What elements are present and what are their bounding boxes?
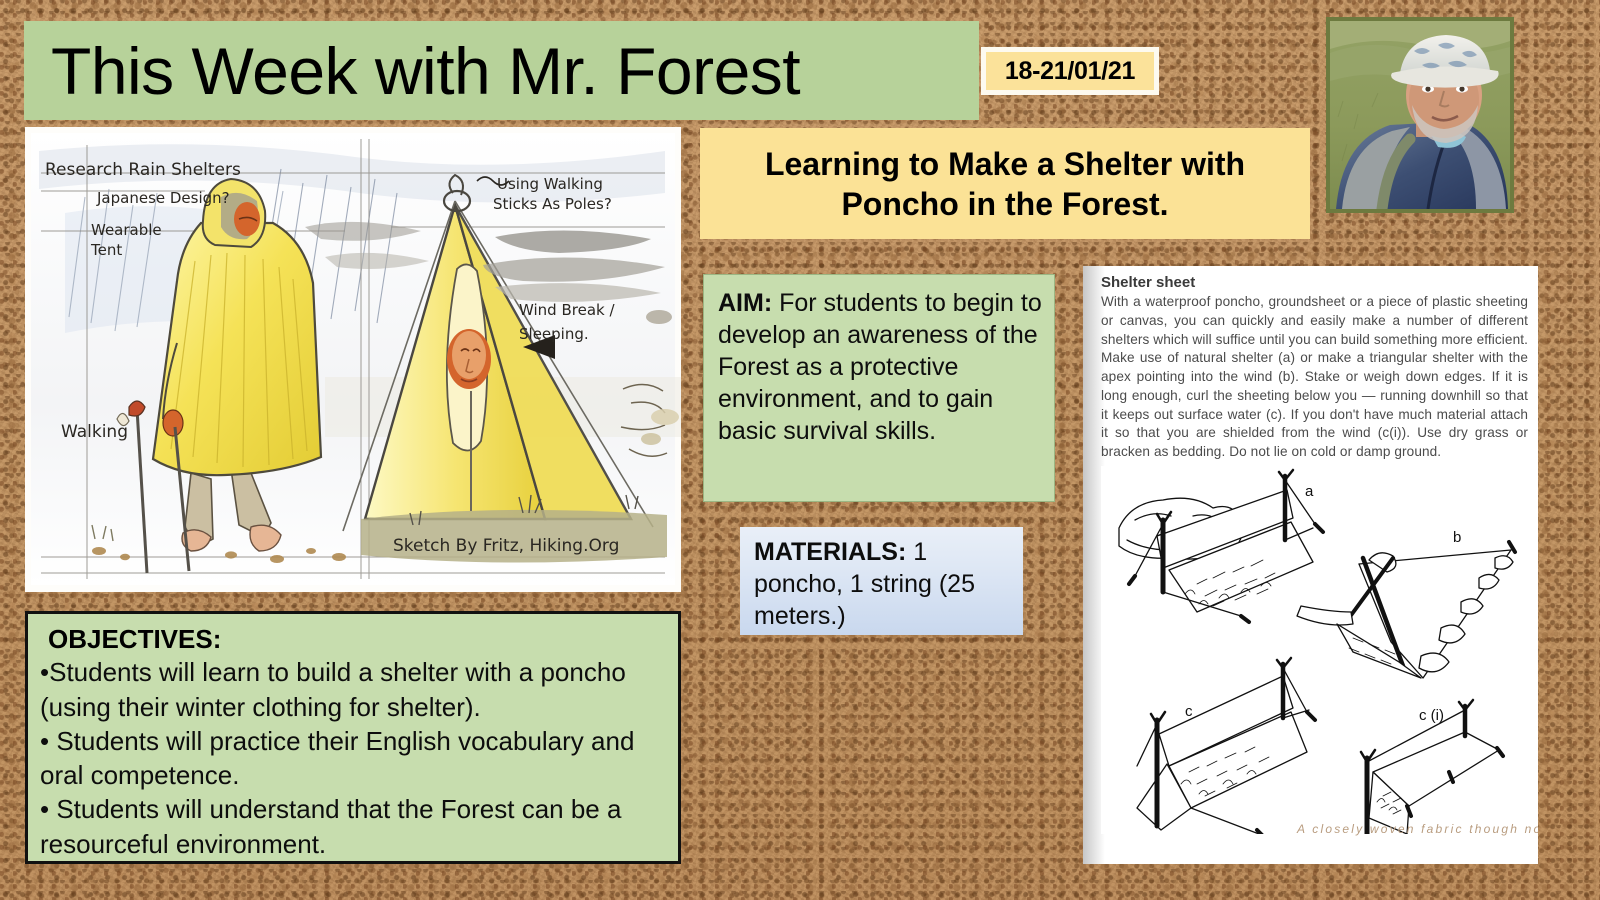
sketch-annotation-8: Walking	[61, 422, 128, 442]
shelter-diagram-figure: a	[1101, 466, 1528, 834]
list-item: • Students will practice their English v…	[40, 724, 666, 793]
materials-box: MATERIALS: 1 poncho, 1 string (25 meters…	[740, 527, 1023, 635]
sketch-annotation-5: Sticks As Poles?	[493, 195, 612, 213]
page-title: This Week with Mr. Forest	[24, 38, 800, 104]
sketch-annotation-3b: Tent	[90, 241, 122, 259]
shelter-sheet-body: With a waterproof poncho, groundsheet or…	[1101, 293, 1528, 462]
portrait-illustration	[1330, 21, 1510, 209]
date-badge: 18-21/01/21	[981, 47, 1159, 95]
objectives-list: •Students will learn to build a shelter …	[40, 655, 666, 861]
sketch-annotation-1: Research Rain Shelters	[45, 160, 241, 180]
figure-label-ci: c (i)	[1419, 707, 1444, 724]
date-text: 18-21/01/21	[1005, 57, 1135, 86]
shelter-sheet-heading: Shelter sheet	[1101, 274, 1528, 291]
list-item: • Students will understand that the Fore…	[40, 792, 666, 861]
aim-label: AIM:	[718, 289, 772, 317]
sketch-illustration: Research Rain Shelters Japanese Design? …	[25, 127, 681, 592]
teacher-portrait-photo	[1326, 17, 1514, 213]
sketch-annotation-4: Using Walking	[497, 175, 603, 193]
sketch-credit: Sketch By Fritz, Hiking.Org	[393, 536, 619, 556]
sketch-annotation-6: Wind Break /	[519, 301, 615, 319]
watercolour-sketch-image: Research Rain Shelters Japanese Design? …	[25, 127, 681, 592]
page-title-band: This Week with Mr. Forest	[24, 21, 979, 120]
sketch-annotation-7: Sleeping.	[519, 325, 589, 343]
cork-board-background: This Week with Mr. Forest 18-21/01/21	[0, 0, 1600, 900]
list-item: •Students will learn to build a shelter …	[40, 655, 666, 724]
sketch-annotation-3: Wearable	[91, 221, 162, 239]
shelter-sheet-caption: A closely woven fabric though not	[1297, 822, 1538, 836]
lesson-title-box: Learning to Make a Shelter with Poncho i…	[700, 128, 1310, 239]
figure-label-b: b	[1453, 529, 1461, 546]
shelter-diagram-illustration: a	[1101, 466, 1526, 834]
objectives-box: OBJECTIVES: •Students will learn to buil…	[25, 611, 681, 864]
figure-label-a: a	[1305, 483, 1314, 500]
shelter-sheet-page: Shelter sheet With a waterproof poncho, …	[1083, 266, 1538, 864]
figure-label-c: c	[1185, 703, 1193, 720]
lesson-title-text: Learning to Make a Shelter with Poncho i…	[700, 144, 1310, 224]
materials-label: MATERIALS:	[754, 538, 906, 566]
sketch-annotation-2: Japanese Design?	[96, 189, 230, 207]
aim-box: AIM: For students to begin to develop an…	[703, 274, 1055, 502]
objectives-title: OBJECTIVES:	[40, 624, 666, 655]
shelter-sheet-content: Shelter sheet With a waterproof poncho, …	[1083, 266, 1538, 834]
